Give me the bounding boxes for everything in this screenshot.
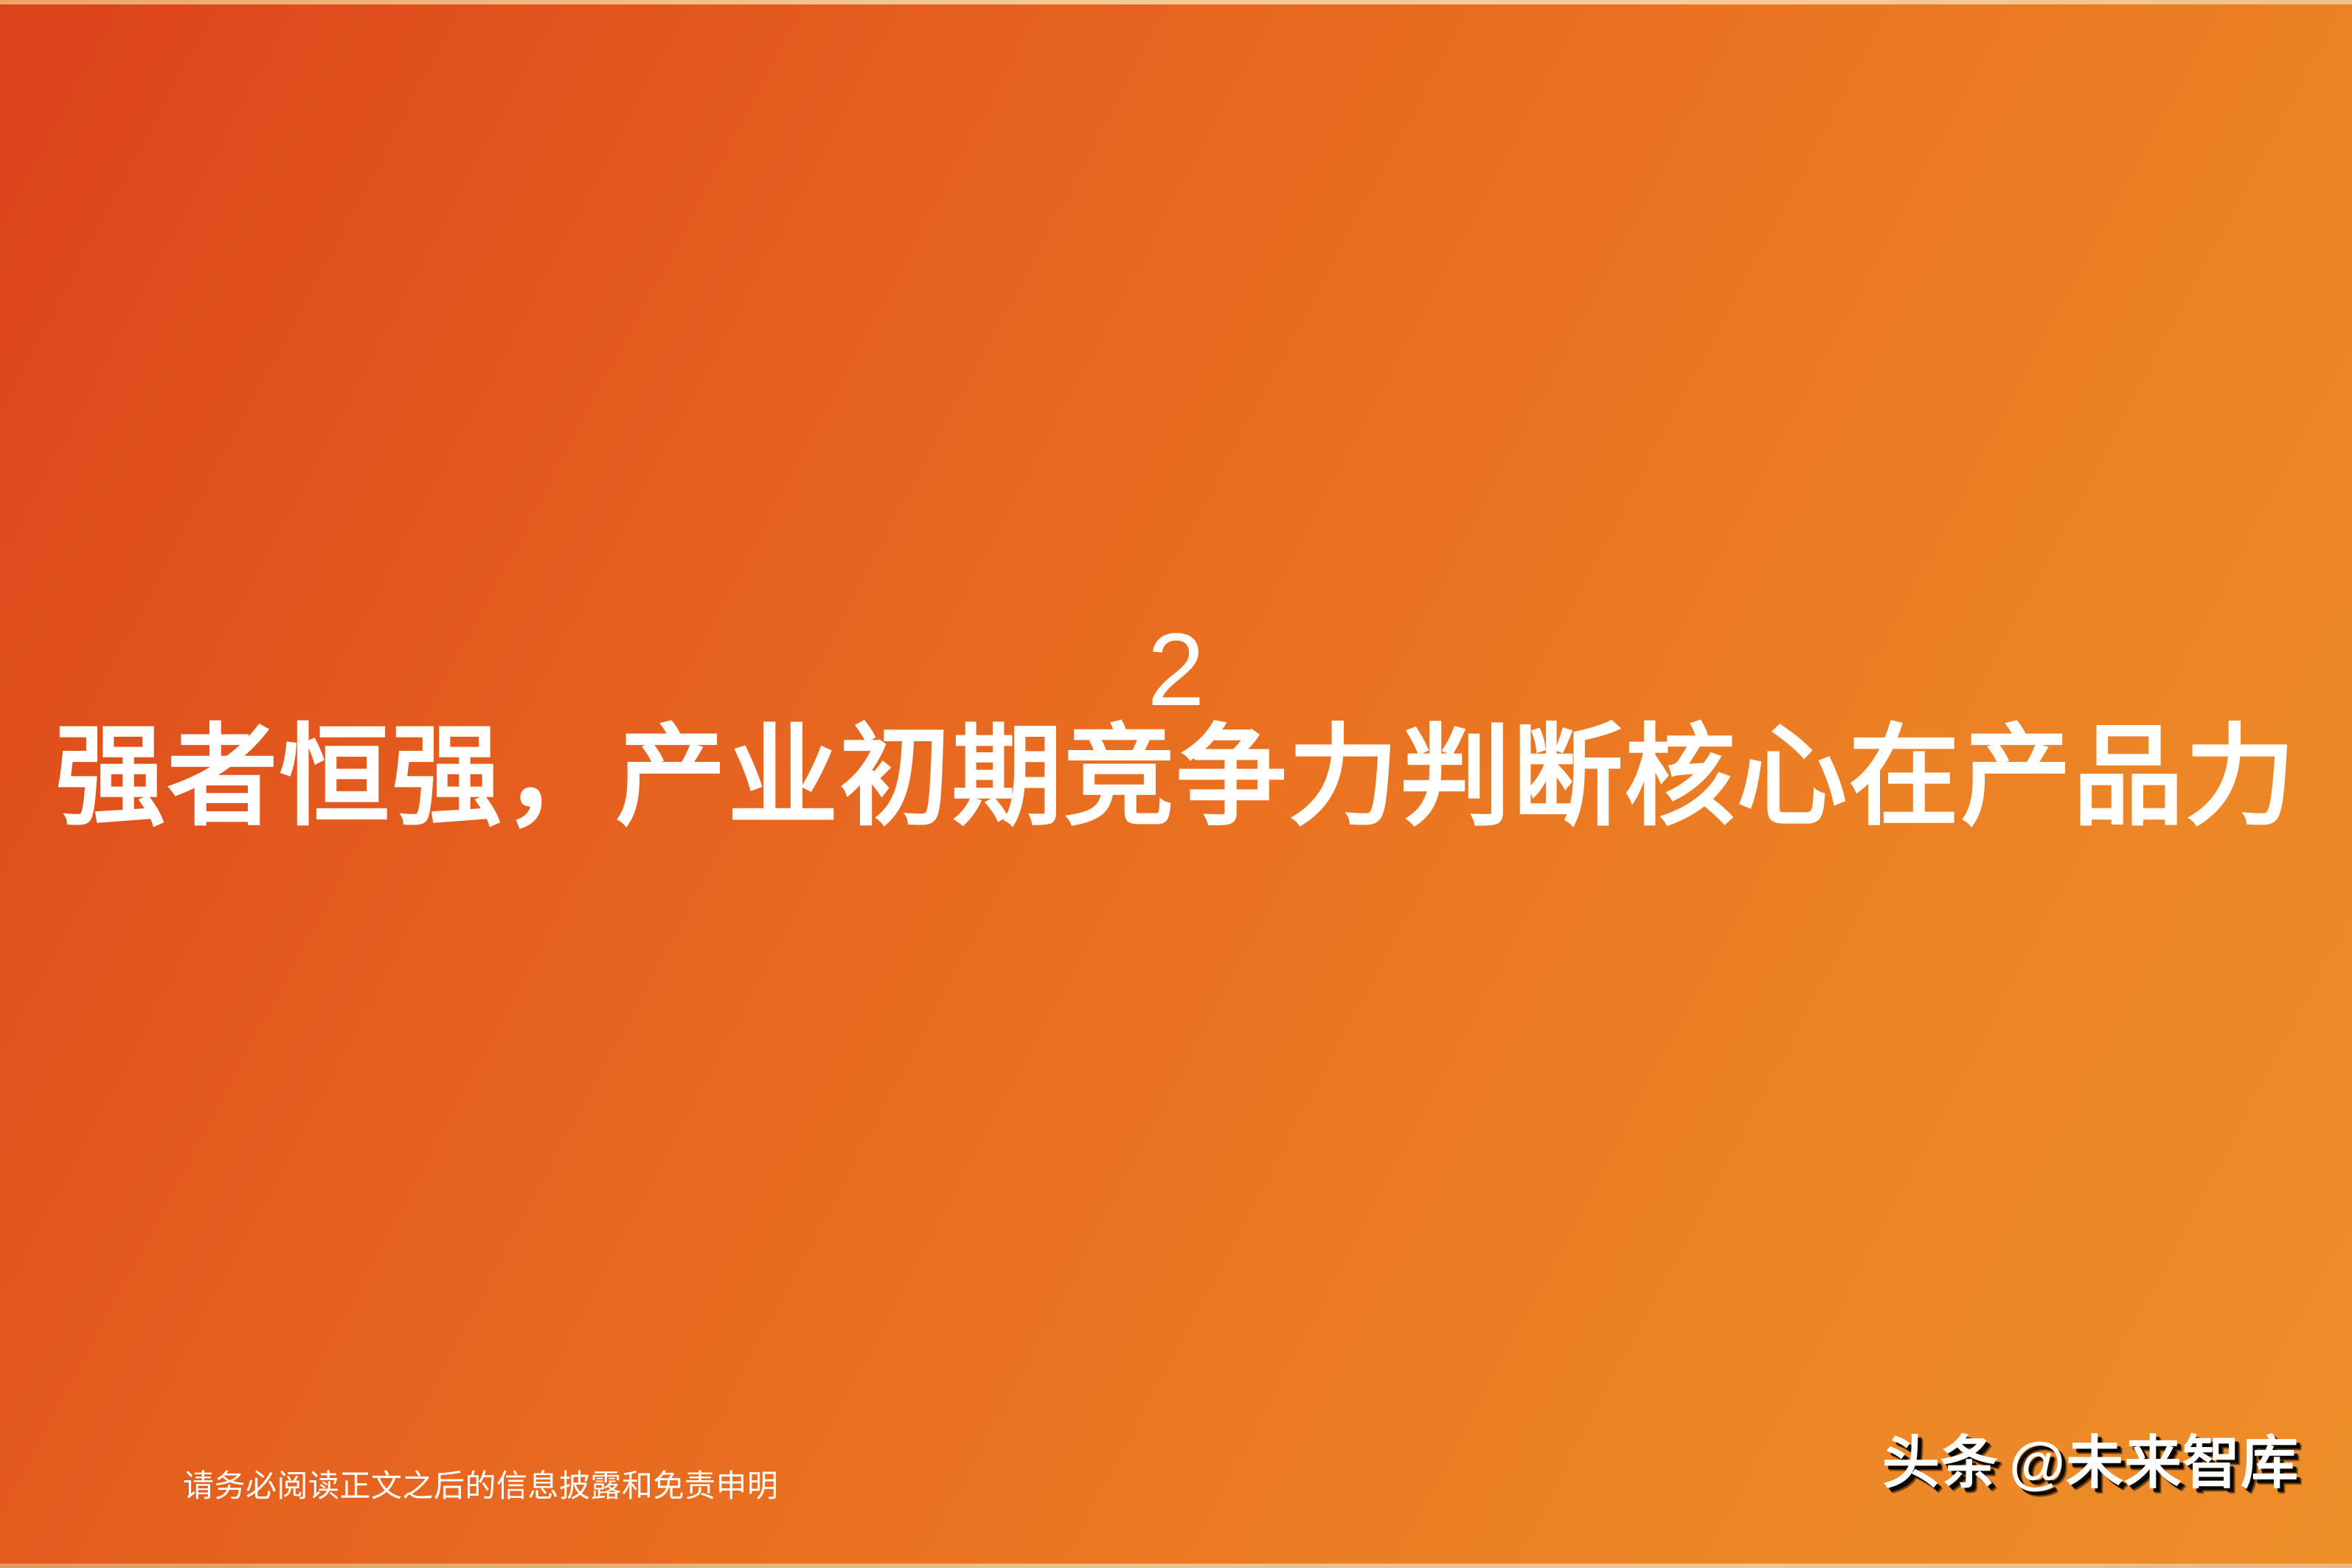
bottom-edge-strip — [0, 1564, 2352, 1568]
section-divider-slide: 2 强者恒强，产业初期竞争力判断核心在产品力 请务必阅读正文之后的信息披露和免责… — [0, 0, 2352, 1568]
watermark-brand: 头条 — [1882, 1430, 1999, 1495]
watermark-handle: @未来智库 — [2009, 1430, 2299, 1495]
section-number: 2 — [0, 618, 2352, 721]
section-title: 强者恒强，产业初期竞争力判断核心在产品力 — [0, 712, 2352, 842]
watermark: 头条@未来智库 — [1882, 1434, 2299, 1491]
top-edge-strip — [0, 0, 2352, 4]
footer-disclaimer: 请务必阅读正文之后的信息披露和免责申明 — [183, 1466, 779, 1507]
